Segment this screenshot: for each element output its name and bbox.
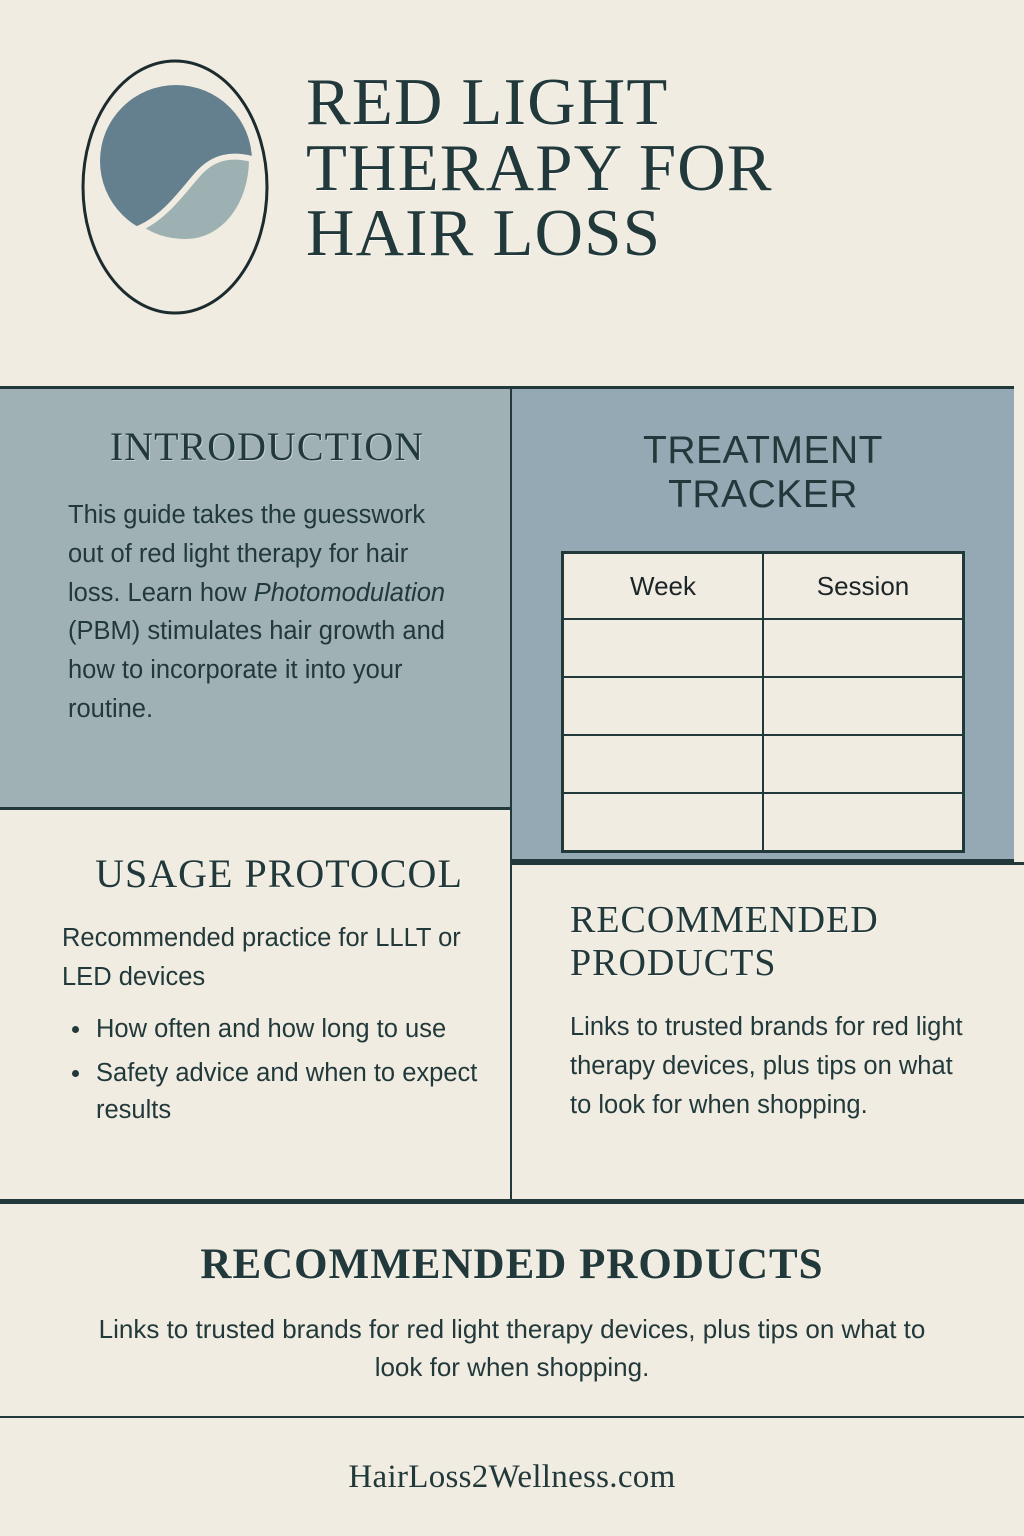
introduction-body: This guide takes the guesswork out of re… bbox=[68, 496, 466, 729]
list-item: How often and how long to use bbox=[62, 1011, 496, 1048]
page-title: RED LIGHT THERAPY FOR HAIR LOSS bbox=[306, 70, 773, 267]
treatment-tracker-table[interactable]: Week Session bbox=[561, 551, 965, 853]
column-header-session: Session bbox=[763, 553, 963, 619]
recommended-products-side-heading-line-2: PRODUCTS bbox=[570, 942, 970, 985]
introduction-heading: INTRODUCTION bbox=[68, 423, 466, 470]
cell-session[interactable] bbox=[763, 619, 963, 677]
list-item: Safety advice and when to expect results bbox=[62, 1055, 496, 1129]
cell-week[interactable] bbox=[563, 793, 763, 851]
usage-protocol-lead: Recommended practice for LLLT or LED dev… bbox=[62, 919, 496, 997]
title-line-2: THERAPY FOR bbox=[306, 136, 773, 202]
cell-week[interactable] bbox=[563, 677, 763, 735]
usage-protocol-heading: USAGE PROTOCOL bbox=[62, 850, 496, 897]
recommended-products-bottom-section: RECOMMENDED PRODUCTS Links to trusted br… bbox=[0, 1202, 1024, 1416]
cell-session[interactable] bbox=[763, 677, 963, 735]
cell-session[interactable] bbox=[763, 793, 963, 851]
recommended-products-side-body: Links to trusted brands for red light th… bbox=[570, 1008, 970, 1124]
cell-week[interactable] bbox=[563, 735, 763, 793]
title-block: RED LIGHT THERAPY FOR HAIR LOSS bbox=[306, 52, 773, 267]
poster-header: RED LIGHT THERAPY FOR HAIR LOSS bbox=[0, 0, 1024, 388]
recommended-products-bottom-heading: RECOMMENDED PRODUCTS bbox=[78, 1240, 946, 1289]
column-header-week: Week bbox=[563, 553, 763, 619]
recommended-products-side-heading: RECOMMENDED PRODUCTS bbox=[570, 899, 970, 984]
treatment-tracker-heading: TREATMENT TRACKER bbox=[558, 429, 968, 517]
table-row[interactable] bbox=[563, 677, 963, 735]
treatment-tracker-panel: TREATMENT TRACKER Week Session bbox=[512, 386, 1014, 862]
recommended-products-side-panel: RECOMMENDED PRODUCTS Links to trusted br… bbox=[512, 862, 1024, 1202]
top-panel-row: INTRODUCTION This guide takes the guessw… bbox=[0, 386, 1024, 810]
title-line-1: RED LIGHT bbox=[306, 70, 773, 136]
cell-week[interactable] bbox=[563, 619, 763, 677]
leaf-circle-logo bbox=[78, 56, 272, 318]
table-row[interactable] bbox=[563, 735, 963, 793]
introduction-body-emphasis: Photomodulation bbox=[254, 579, 445, 607]
title-line-3: HAIR LOSS bbox=[306, 201, 773, 267]
table-header-row: Week Session bbox=[563, 553, 963, 619]
usage-protocol-bullet-list: How often and how long to use Safety adv… bbox=[62, 1011, 496, 1130]
recommended-products-bottom-body: Links to trusted brands for red light th… bbox=[82, 1311, 942, 1386]
recommended-products-side-heading-line-1: RECOMMENDED bbox=[570, 899, 970, 942]
footer-website-url[interactable]: HairLoss2Wellness.com bbox=[348, 1459, 675, 1496]
cell-session[interactable] bbox=[763, 735, 963, 793]
poster-footer: HairLoss2Wellness.com bbox=[0, 1416, 1024, 1536]
table-row[interactable] bbox=[563, 619, 963, 677]
introduction-body-part-2: (PBM) stimulates hair growth and how to … bbox=[68, 617, 445, 723]
introduction-panel: INTRODUCTION This guide takes the guessw… bbox=[0, 386, 512, 810]
usage-protocol-panel: USAGE PROTOCOL Recommended practice for … bbox=[0, 810, 512, 1202]
table-row[interactable] bbox=[563, 793, 963, 851]
infographic-poster: RED LIGHT THERAPY FOR HAIR LOSS INTRODUC… bbox=[0, 0, 1024, 1536]
